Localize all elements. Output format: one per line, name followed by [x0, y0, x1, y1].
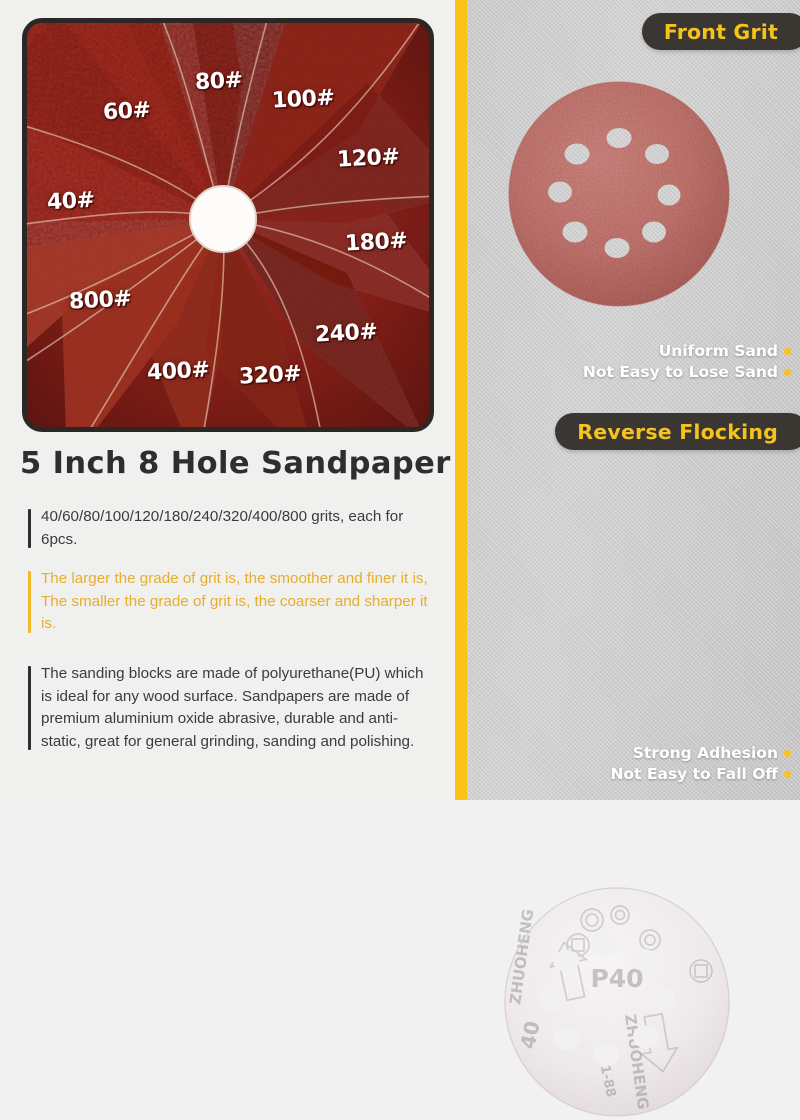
- svg-text:P40: P40: [590, 964, 643, 993]
- right-panel: Front Grit Uniform Sand Not Easy to Lose…: [467, 0, 800, 800]
- front-grit-section: Front Grit Uniform Sand Not Easy to Lose…: [467, 0, 800, 400]
- reverse-flocking-badge: Reverse Flocking: [555, 413, 800, 450]
- front-grit-badge-label: Front Grit: [664, 20, 778, 44]
- info-block-grits: 40/60/80/100/120/180/240/320/400/800 gri…: [28, 506, 432, 551]
- grit-label: 240#: [314, 321, 377, 346]
- feature-item: Uniform Sand: [583, 342, 791, 360]
- feature-label: Uniform Sand: [659, 342, 778, 360]
- front-grit-features: Uniform Sand Not Easy to Lose Sand: [583, 342, 791, 384]
- feature-label: Strong Adhesion: [633, 744, 778, 762]
- reverse-flocking-badge-label: Reverse Flocking: [577, 420, 778, 444]
- front-grit-sanding-disc: [507, 80, 732, 308]
- grit-label: 100#: [271, 87, 334, 112]
- info-block-materials: The sanding blocks are made of polyureth…: [28, 663, 432, 753]
- bullet-dot-icon: [784, 771, 791, 778]
- bullet-dot-icon: [784, 750, 791, 757]
- feature-item: Strong Adhesion: [610, 744, 791, 762]
- reverse-flocking-sanding-disc: P40 ZHUOHENG ZHUOHENG 40 L01-88: [504, 887, 734, 1120]
- grit-label: 320#: [238, 363, 301, 388]
- accent-bar: [28, 509, 31, 548]
- reverse-flocking-section: P40 ZHUOHENG ZHUOHENG 40 L01-88 Reverse …: [467, 400, 800, 800]
- grit-label: 180#: [344, 230, 407, 255]
- feature-item: Not Easy to Fall Off: [610, 765, 791, 783]
- accent-bar: [28, 666, 31, 750]
- accent-bar: [28, 571, 31, 633]
- feature-label: Not Easy to Fall Off: [610, 765, 778, 783]
- grit-label: 80#: [194, 70, 243, 94]
- infographic-canvas: 80#100#60#120#40#180#800#240#400#320# 5 …: [0, 0, 800, 800]
- left-panel: 80#100#60#120#40#180#800#240#400#320# 5 …: [0, 0, 455, 800]
- sandpaper-fan-photo: 80#100#60#120#40#180#800#240#400#320#: [22, 18, 434, 432]
- info-text-grade-note: The larger the grade of grit is, the smo…: [41, 568, 432, 636]
- section-divider: [455, 0, 467, 800]
- bullet-dot-icon: [784, 369, 791, 376]
- info-text-materials: The sanding blocks are made of polyureth…: [41, 663, 432, 753]
- bullet-dot-icon: [784, 348, 791, 355]
- grit-label: 40#: [46, 190, 95, 214]
- feature-item: Not Easy to Lose Sand: [583, 363, 791, 381]
- grit-label: 400#: [146, 359, 209, 384]
- feature-label: Not Easy to Lose Sand: [583, 363, 778, 381]
- grit-label: 120#: [336, 146, 399, 171]
- info-text-grits: 40/60/80/100/120/180/240/320/400/800 gri…: [41, 506, 432, 551]
- reverse-flocking-features: Strong Adhesion Not Easy to Fall Off: [610, 744, 791, 786]
- page-title: 5 Inch 8 Hole Sandpaper: [20, 446, 451, 481]
- front-grit-badge: Front Grit: [642, 13, 800, 50]
- info-block-grade-note: The larger the grade of grit is, the smo…: [28, 568, 432, 636]
- grit-label: 60#: [102, 100, 151, 124]
- grit-label: 800#: [68, 288, 131, 313]
